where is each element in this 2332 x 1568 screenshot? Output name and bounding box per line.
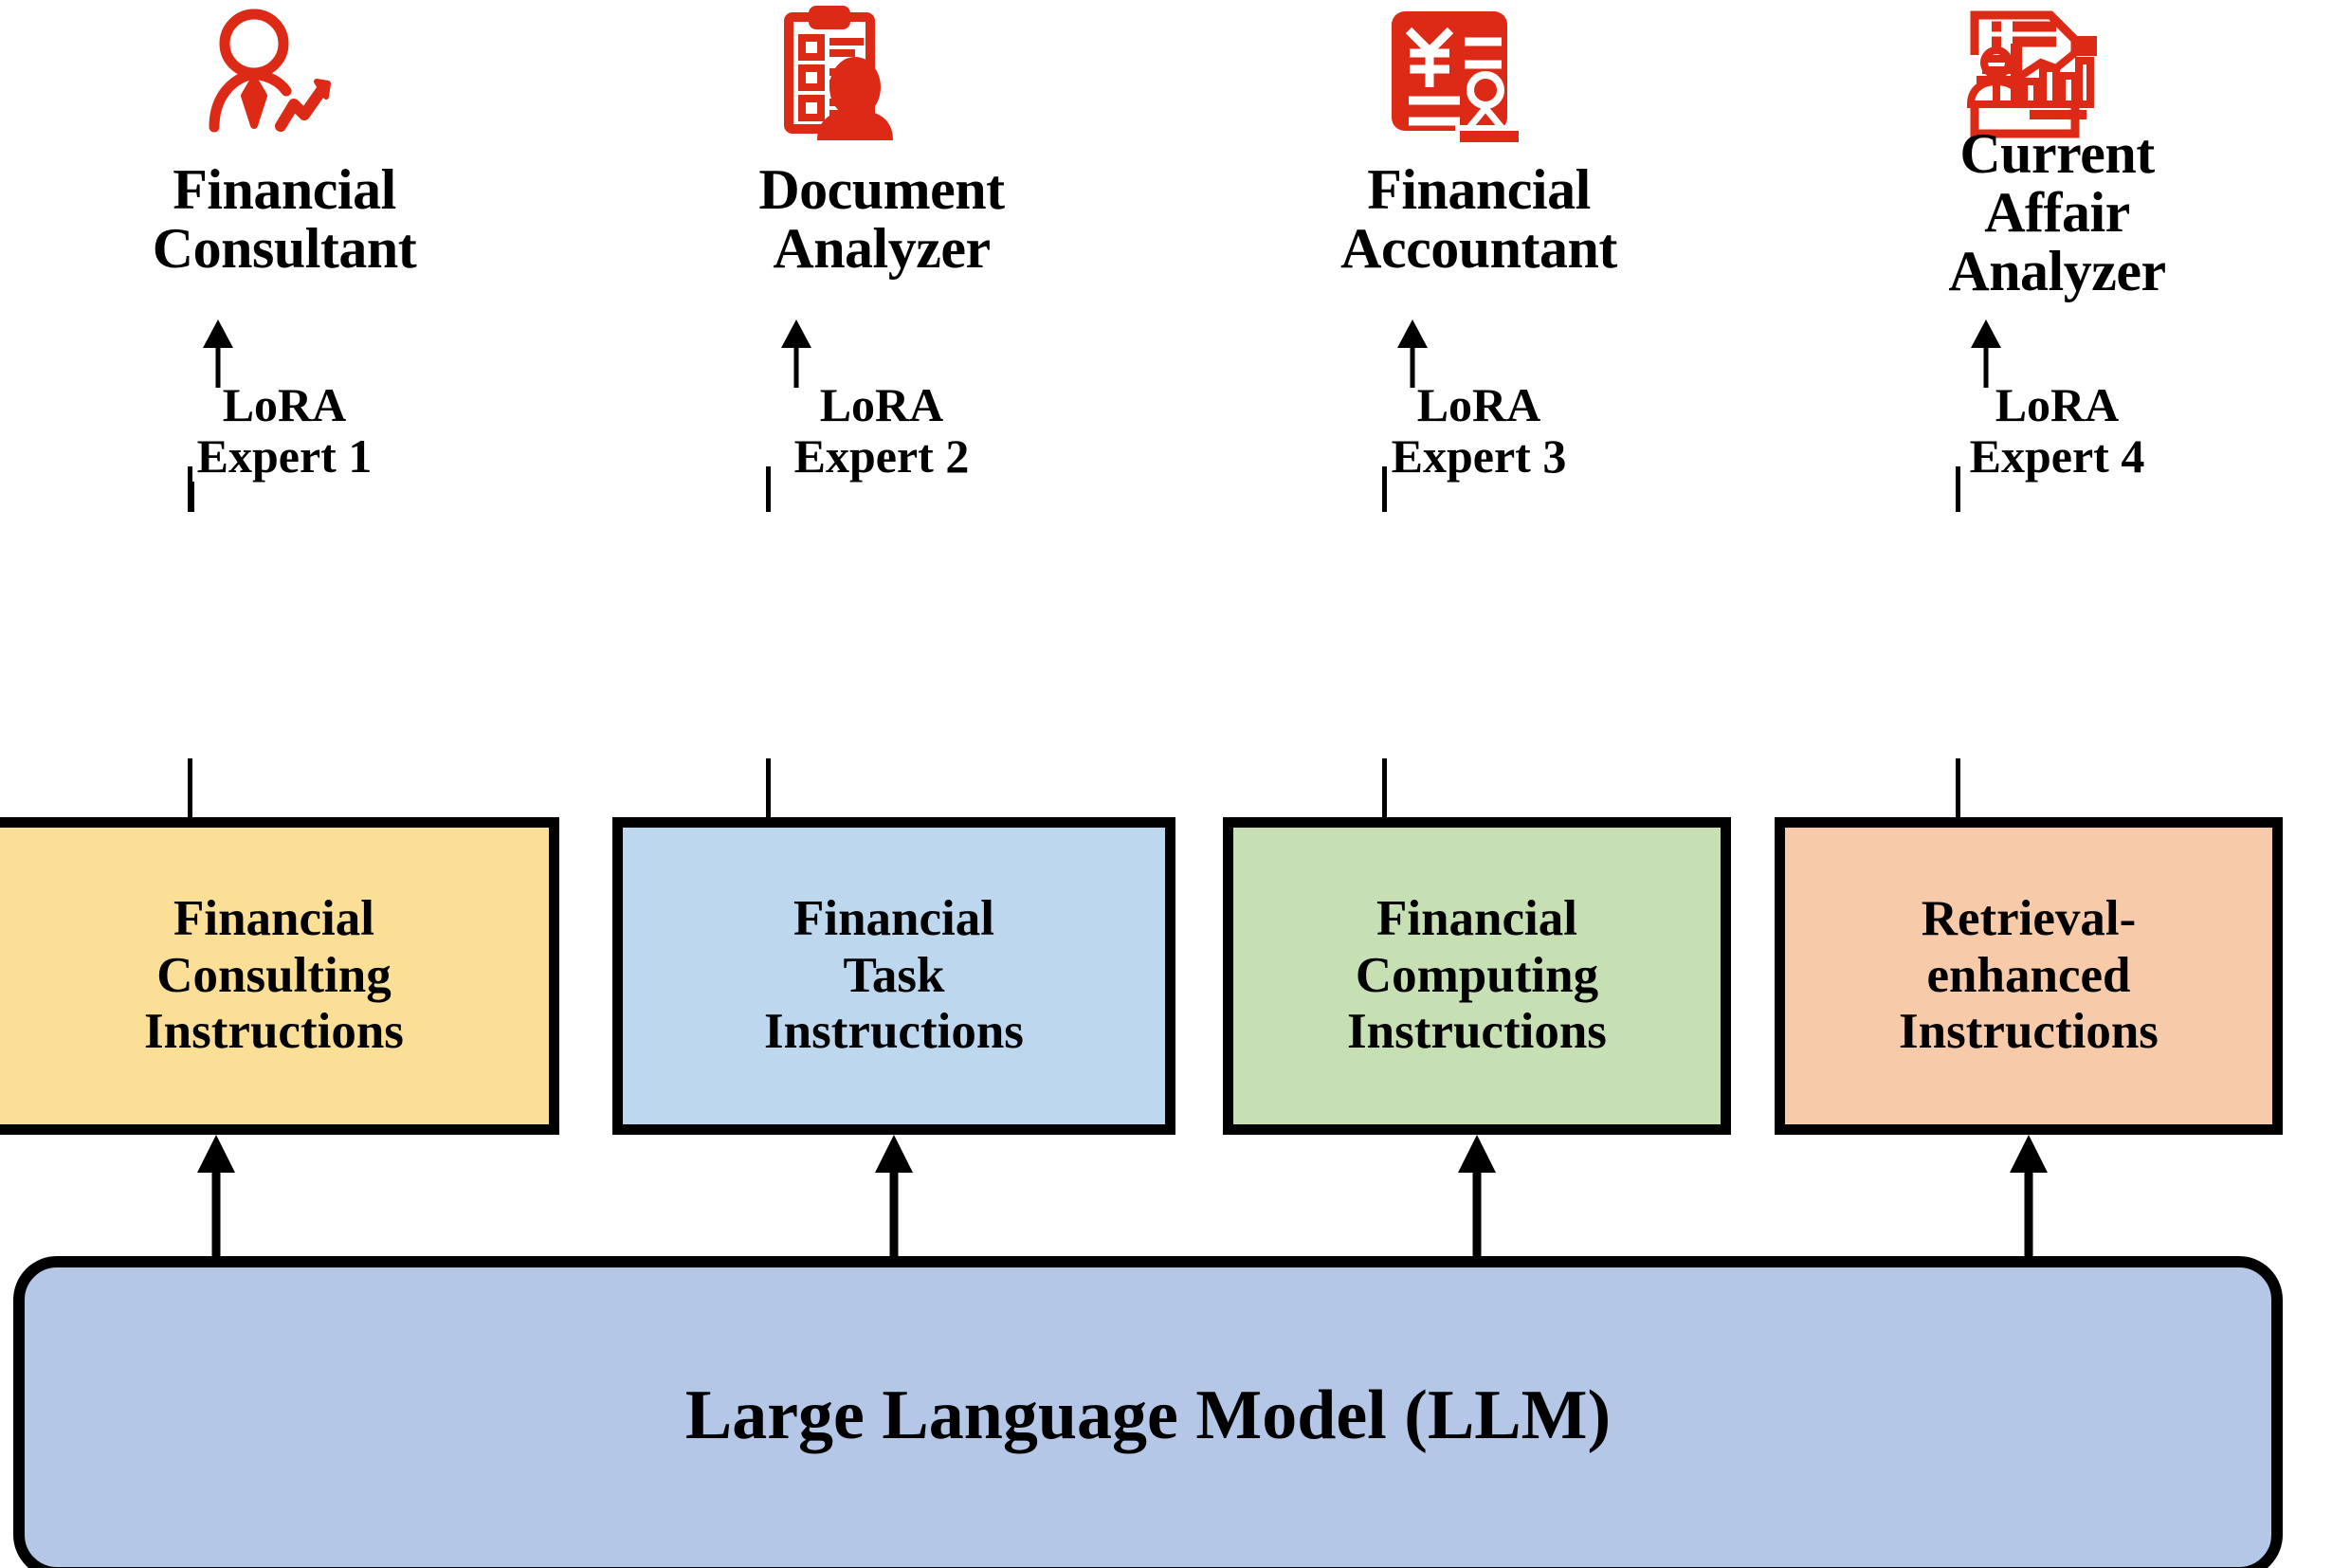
role-title-4: Current Affair Analyzer	[1782, 125, 2332, 301]
lora-stub-upper-1	[188, 466, 192, 512]
instruction-box-3-line1: Financial	[1347, 891, 1607, 947]
lora-stub-upper-3	[1382, 466, 1387, 512]
instruction-box-2-line1: Financial	[764, 891, 1024, 947]
instruction-box-2-line3: Instructions	[764, 1004, 1024, 1060]
lora-expert-label-1-line1: LoRA	[0, 379, 569, 430]
lora-expert-label-3: LoRA Expert 3	[1194, 379, 1763, 482]
role-title-3-line2: Accountant	[1194, 220, 1763, 279]
role-title-1-line2: Consultant	[0, 220, 569, 279]
llm-to-box-arrow-1	[188, 1135, 245, 1258]
instruction-box-4-line3: Instructions	[1899, 1004, 2159, 1060]
role-title-2-line2: Analyzer	[588, 220, 1175, 279]
role-title-2-line1: Document	[588, 161, 1175, 220]
role-title-1-line1: Financial	[0, 161, 569, 220]
lora-expert-label-4-line1: LoRA	[1782, 379, 2332, 430]
diagram-canvas: Financial Consultant LoRA Expert 1	[0, 0, 2332, 1568]
role-title-3: Financial Accountant	[1194, 161, 1763, 279]
role-title-4-line1: Current	[1782, 125, 2332, 184]
instruction-box-4-line2: enhanced	[1899, 948, 2159, 1004]
instruction-box-2[interactable]: Financial Task Instructions	[612, 817, 1175, 1135]
lora-expert-label-2: LoRA Expert 2	[588, 379, 1175, 482]
role-title-3-line1: Financial	[1194, 161, 1763, 220]
instruction-box-4[interactable]: Retrieval- enhanced Instructions	[1775, 817, 2283, 1135]
document-analyzer-icon	[768, 6, 910, 143]
instruction-box-4-line1: Retrieval-	[1899, 891, 2159, 947]
role-title-1: Financial Consultant	[0, 161, 569, 279]
role-title-4-line3: Analyzer	[1782, 243, 2332, 301]
lora-expert-label-2-line2: Expert 2	[588, 430, 1175, 482]
lora-expert-label-4: LoRA Expert 4	[1782, 379, 2332, 482]
lora-stub-lower-3	[1382, 758, 1387, 817]
lora-expert-label-1: LoRA Expert 1	[0, 379, 569, 482]
lora-expert-label-4-line2: Expert 4	[1782, 430, 2332, 482]
llm-box[interactable]: Large Language Model (LLM)	[13, 1256, 2283, 1568]
llm-to-box-arrow-2	[865, 1135, 922, 1258]
lora-stub-lower-1	[188, 758, 192, 817]
role-title-4-line2: Affair	[1782, 184, 2332, 243]
financial-consultant-icon	[190, 6, 332, 143]
instruction-box-1-line1: Financial	[144, 891, 404, 947]
instruction-box-1-line3: Instructions	[144, 1004, 404, 1060]
llm-to-box-arrow-3	[1448, 1135, 1505, 1258]
instruction-box-3-line2: Computing	[1347, 948, 1607, 1004]
lora-expert-label-3-line2: Expert 3	[1194, 430, 1763, 482]
financial-accountant-icon	[1384, 6, 1526, 143]
role-title-2: Document Analyzer	[588, 161, 1175, 279]
llm-label: Large Language Model (LLM)	[685, 1376, 1611, 1456]
lora-stub-upper-4	[1956, 466, 1960, 512]
lora-expert-label-1-line2: Expert 1	[0, 430, 569, 482]
lora-stub-lower-2	[766, 758, 771, 817]
lora-stub-upper-2	[766, 466, 771, 512]
instruction-box-1-line2: Consulting	[144, 948, 404, 1004]
lora-stub-lower-4	[1956, 758, 1960, 817]
llm-to-box-arrow-4	[2000, 1135, 2057, 1258]
instruction-box-1[interactable]: Financial Consulting Instructions	[0, 817, 559, 1135]
lora-arrow-2	[768, 319, 825, 388]
instruction-box-2-line2: Task	[764, 948, 1024, 1004]
lora-expert-label-3-line1: LoRA	[1194, 379, 1763, 430]
lora-expert-label-2-line1: LoRA	[588, 379, 1175, 430]
instruction-box-3[interactable]: Financial Computing Instructions	[1223, 817, 1731, 1135]
instruction-box-3-line3: Instructions	[1347, 1004, 1607, 1060]
